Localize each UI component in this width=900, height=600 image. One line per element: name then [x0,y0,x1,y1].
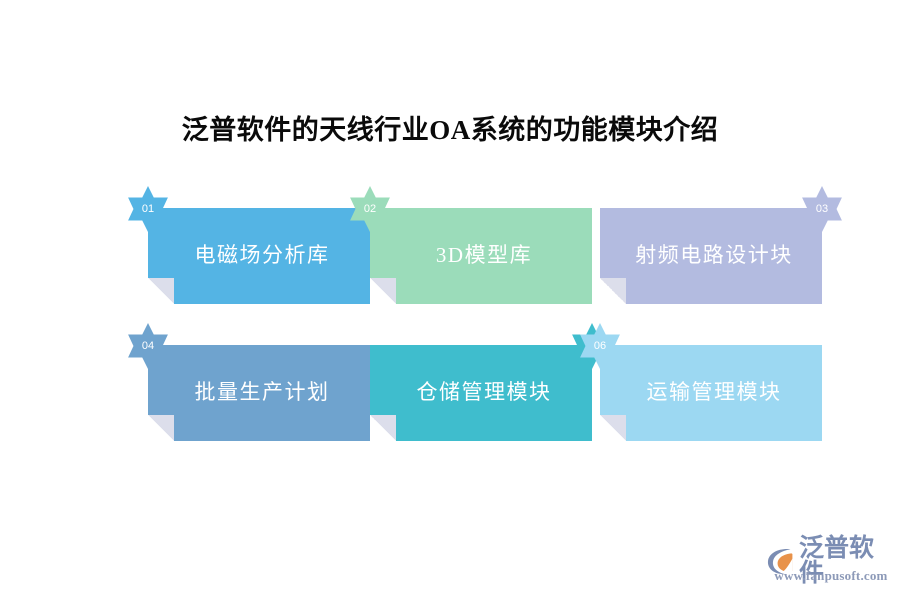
module-number-label: 01 [142,204,154,215]
module-card-label: 电磁场分析库 [189,245,330,268]
module-card-body: 电磁场分析库 [148,208,370,304]
module-card-body: 运输管理模块 [600,345,822,441]
module-card-body: 射频电路设计块 [600,208,822,304]
module-card[interactable]: 运输管理模块06 [600,345,822,441]
module-card-label: 运输管理模块 [641,382,782,405]
module-number-label: 02 [364,204,376,215]
brand-logo: 泛普软件 www.fanpusoft.com [766,536,894,588]
module-card-label: 仓储管理模块 [411,382,552,405]
folded-corner-icon [370,278,396,304]
module-card[interactable]: 3D模型库02 [370,208,592,304]
module-card-grid: 电磁场分析库013D模型库02射频电路设计块03批量生产计划04仓储管理模块05… [0,0,900,600]
folded-corner-icon [370,415,396,441]
module-card[interactable]: 仓储管理模块05 [370,345,592,441]
module-card-label: 批量生产计划 [189,382,330,405]
module-card[interactable]: 射频电路设计块03 [600,208,822,304]
module-number-label: 06 [594,341,606,352]
folded-corner-icon [148,278,174,304]
module-card-body: 批量生产计划 [148,345,370,441]
logo-url: www.fanpusoft.com [768,568,894,584]
module-card-label: 3D模型库 [430,245,532,268]
folded-corner-icon [148,415,174,441]
folded-corner-icon [600,278,626,304]
module-card-label: 射频电路设计块 [629,245,793,268]
module-card[interactable]: 电磁场分析库01 [148,208,370,304]
folded-corner-icon [600,415,626,441]
module-card-body: 3D模型库 [370,208,592,304]
module-number-label: 03 [816,204,828,215]
slide-canvas: 泛普软件的天线行业OA系统的功能模块介绍 电磁场分析库013D模型库02射频电路… [0,0,900,600]
module-card-body: 仓储管理模块 [370,345,592,441]
module-card[interactable]: 批量生产计划04 [148,345,370,441]
module-number-label: 04 [142,341,154,352]
